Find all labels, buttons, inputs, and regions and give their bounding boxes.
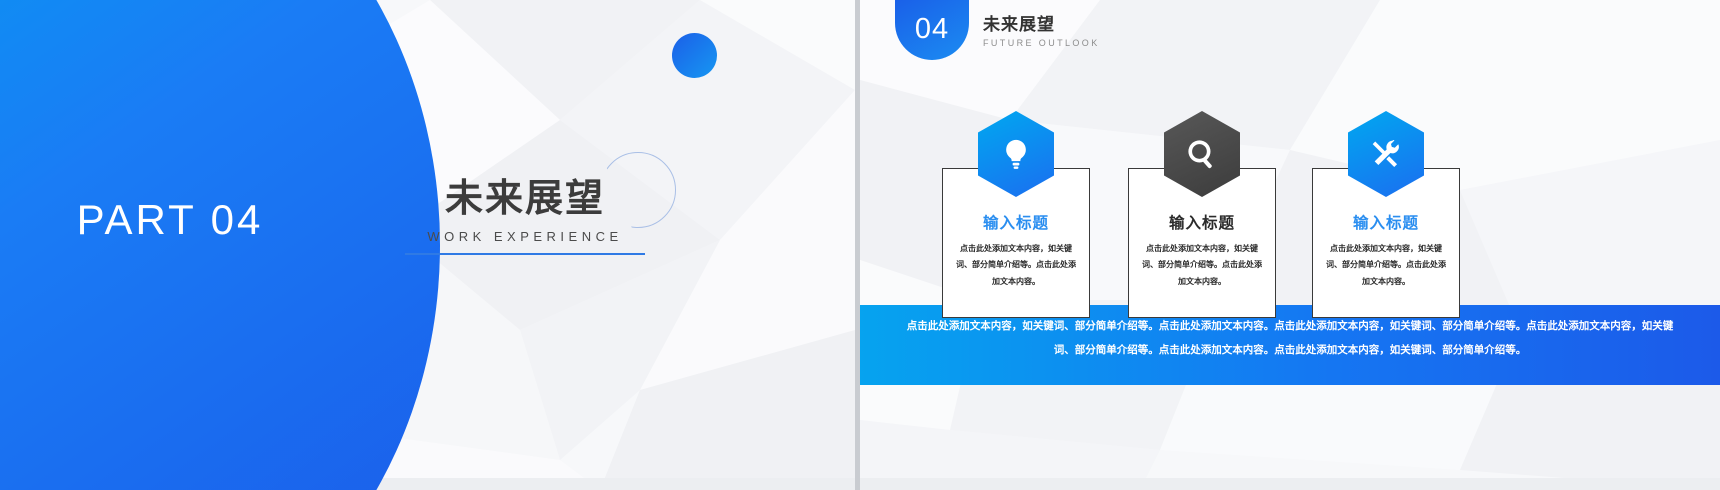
card-1-title: 输入标题 — [943, 211, 1089, 233]
card-2-body: 点击此处添加文本内容，如关键词、部分简单介绍等。点击此处添加文本内容。 — [1141, 241, 1263, 290]
card-1[interactable]: 输入标题 点击此处添加文本内容，如关键词、部分简单介绍等。点击此处添加文本内容。 — [942, 168, 1090, 318]
lightbulb-icon — [978, 111, 1054, 197]
right-content-slide: 04 未来展望 FUTURE OUTLOOK 点击此处添加文本内容，如关键词、部… — [860, 0, 1720, 490]
slide-pair-canvas: PART 04 未来展望 WORK EXPERIENCE — [0, 0, 1720, 490]
left-title-cn: 未来展望 — [405, 178, 645, 220]
left-title-block: 未来展望 WORK EXPERIENCE — [405, 178, 645, 255]
card-2-title: 输入标题 — [1129, 211, 1275, 233]
card-2[interactable]: 输入标题 点击此处添加文本内容，如关键词、部分简单介绍等。点击此处添加文本内容。 — [1128, 168, 1276, 318]
left-section-divider-slide: PART 04 未来展望 WORK EXPERIENCE — [0, 0, 855, 490]
cards-row: 输入标题 点击此处添加文本内容，如关键词、部分简单介绍等。点击此处添加文本内容。… — [860, 0, 1720, 490]
card-3-title: 输入标题 — [1313, 211, 1459, 233]
tools-icon — [1348, 111, 1424, 197]
decorative-blue-dot — [672, 33, 717, 78]
card-3[interactable]: 输入标题 点击此处添加文本内容，如关键词、部分简单介绍等。点击此处添加文本内容。 — [1312, 168, 1460, 318]
card-3-body: 点击此处添加文本内容，如关键词、部分简单介绍等。点击此处添加文本内容。 — [1325, 241, 1447, 290]
left-title-en: WORK EXPERIENCE — [405, 229, 645, 244]
magnifier-icon — [1164, 111, 1240, 197]
decorative-blue-circle-large — [0, 0, 440, 490]
part-label: PART 04 — [20, 196, 320, 244]
left-title-underline — [405, 253, 645, 255]
card-1-body: 点击此处添加文本内容，如关键词、部分简单介绍等。点击此处添加文本内容。 — [955, 241, 1077, 290]
